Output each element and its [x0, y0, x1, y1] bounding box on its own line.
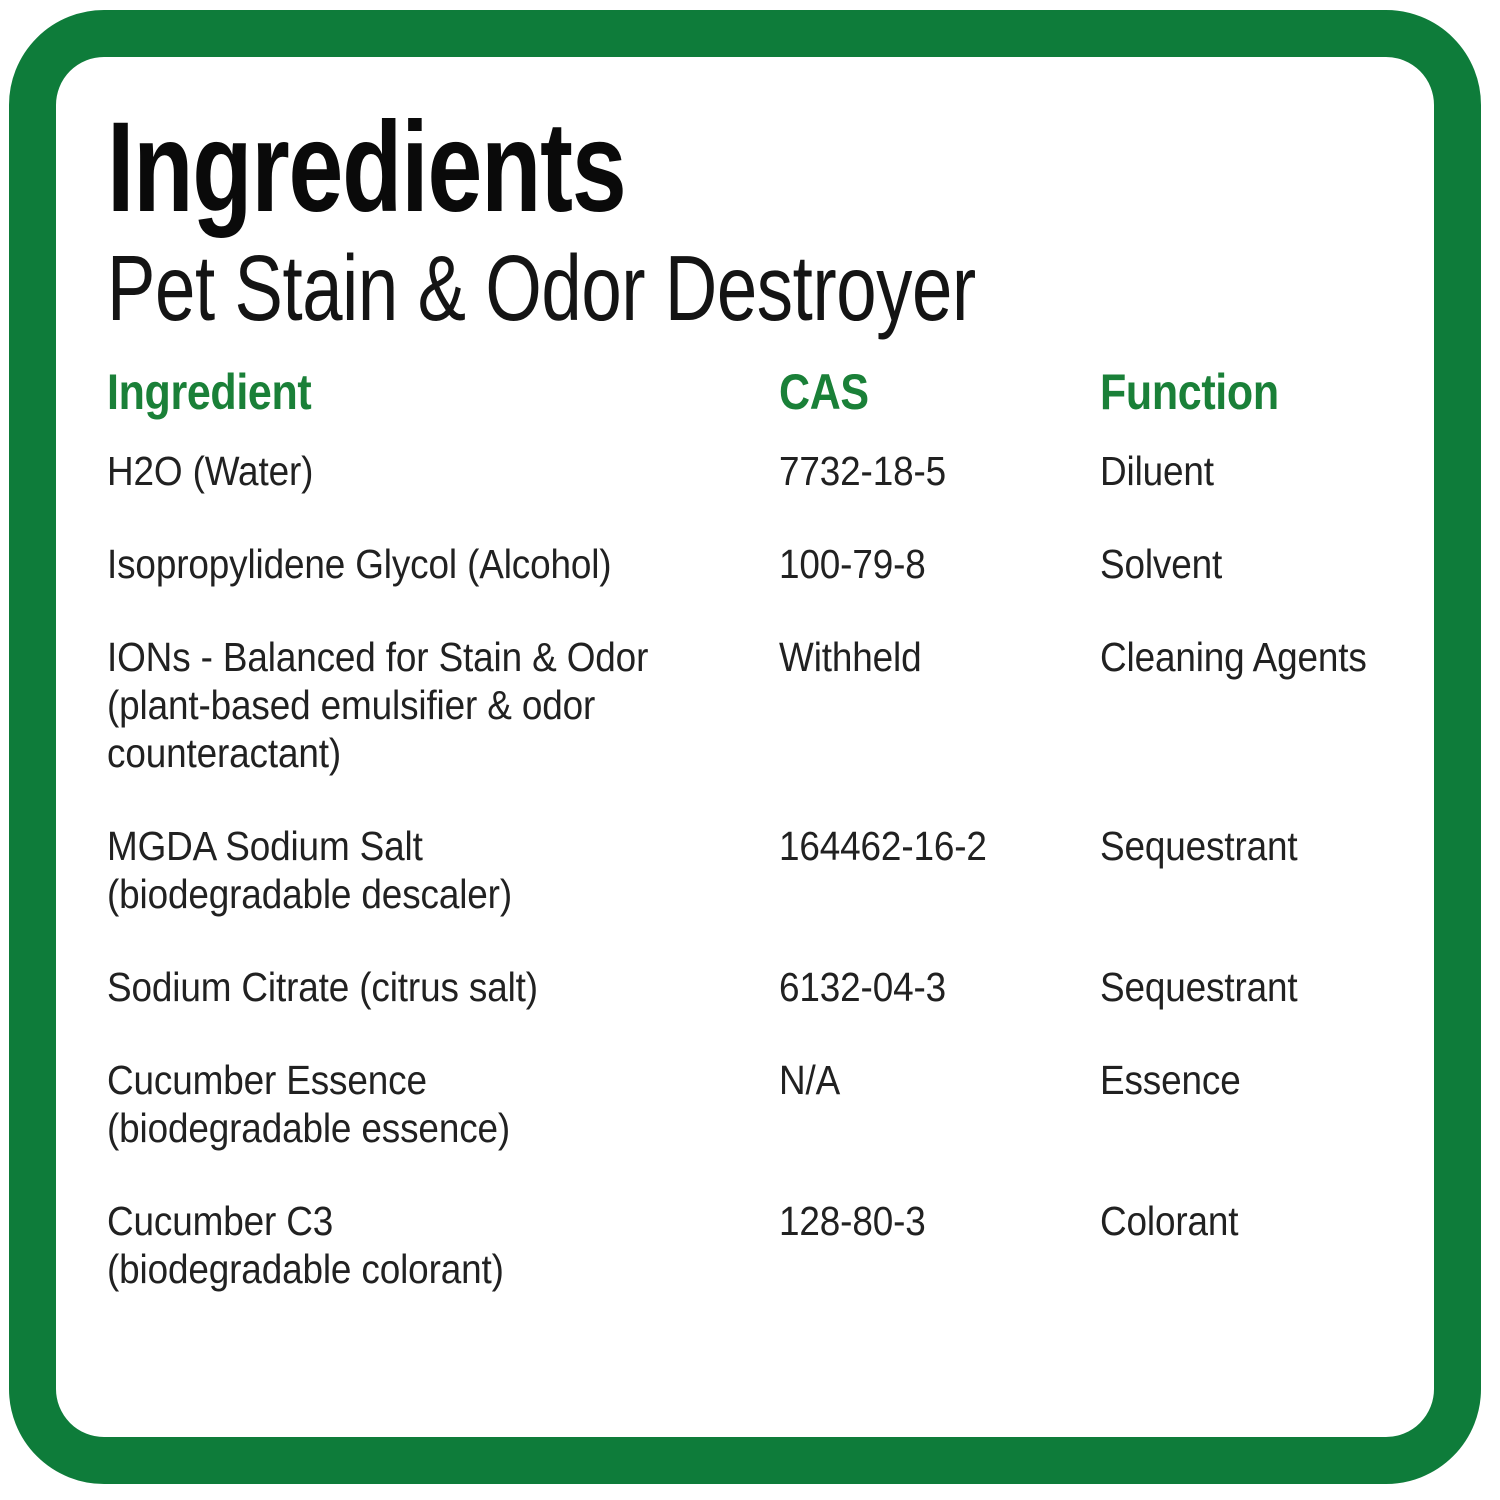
cell-function: Colorant	[1100, 1198, 1394, 1246]
product-subtitle: Pet Stain & Odor Destroyer	[107, 240, 1121, 338]
table-row: MGDA Sodium Salt (biodegradable descaler…	[107, 823, 1427, 919]
cell-ingredient: Cucumber C3 (biodegradable colorant)	[107, 1198, 712, 1294]
cell-cas: Withheld	[779, 634, 1068, 682]
table-row: Cucumber C3 (biodegradable colorant) 128…	[107, 1198, 1427, 1294]
cell-cas: 7732-18-5	[779, 448, 1068, 496]
table-header-row: Ingredient CAS Function	[107, 367, 1427, 417]
ingredients-label-card: Ingredients Pet Stain & Odor Destroyer I…	[9, 10, 1481, 1484]
cell-ingredient: H2O (Water)	[107, 448, 712, 496]
table-row: Cucumber Essence (biodegradable essence)…	[107, 1057, 1427, 1153]
cell-cas: 164462-16-2	[779, 823, 1068, 871]
cell-ingredient: Sodium Citrate (citrus salt)	[107, 964, 712, 1012]
card-inner: Ingredients Pet Stain & Odor Destroyer I…	[56, 57, 1434, 1437]
cell-cas: 6132-04-3	[779, 964, 1068, 1012]
table-row: IONs - Balanced for Stain & Odor (plant-…	[107, 634, 1427, 778]
cell-function: Solvent	[1100, 541, 1394, 589]
cell-cas: 100-79-8	[779, 541, 1068, 589]
column-header-function: Function	[1100, 367, 1381, 417]
table-row: Sodium Citrate (citrus salt) 6132-04-3 S…	[107, 964, 1427, 1012]
cell-ingredient: Isopropylidene Glycol (Alcohol)	[107, 541, 712, 589]
column-header-cas: CAS	[779, 367, 1055, 417]
cell-cas: 128-80-3	[779, 1198, 1068, 1246]
table-row: Isopropylidene Glycol (Alcohol) 100-79-8…	[107, 541, 1427, 589]
table-row: H2O (Water) 7732-18-5 Diluent	[107, 448, 1427, 496]
page-title: Ingredients	[107, 104, 1108, 232]
cell-cas: N/A	[779, 1057, 1068, 1105]
cell-ingredient: Cucumber Essence (biodegradable essence)	[107, 1057, 712, 1153]
cell-function: Diluent	[1100, 448, 1394, 496]
cell-function: Sequestrant	[1100, 823, 1394, 871]
column-header-ingredient: Ingredient	[107, 367, 685, 417]
cell-ingredient: MGDA Sodium Salt (biodegradable descaler…	[107, 823, 712, 919]
ingredients-table: Ingredient CAS Function H2O (Water) 7732…	[107, 367, 1427, 1294]
cell-function: Cleaning Agents	[1100, 634, 1394, 682]
header-block: Ingredients Pet Stain & Odor Destroyer	[107, 104, 1407, 338]
cell-ingredient: IONs - Balanced for Stain & Odor (plant-…	[107, 634, 712, 778]
cell-function: Essence	[1100, 1057, 1394, 1105]
cell-function: Sequestrant	[1100, 964, 1394, 1012]
